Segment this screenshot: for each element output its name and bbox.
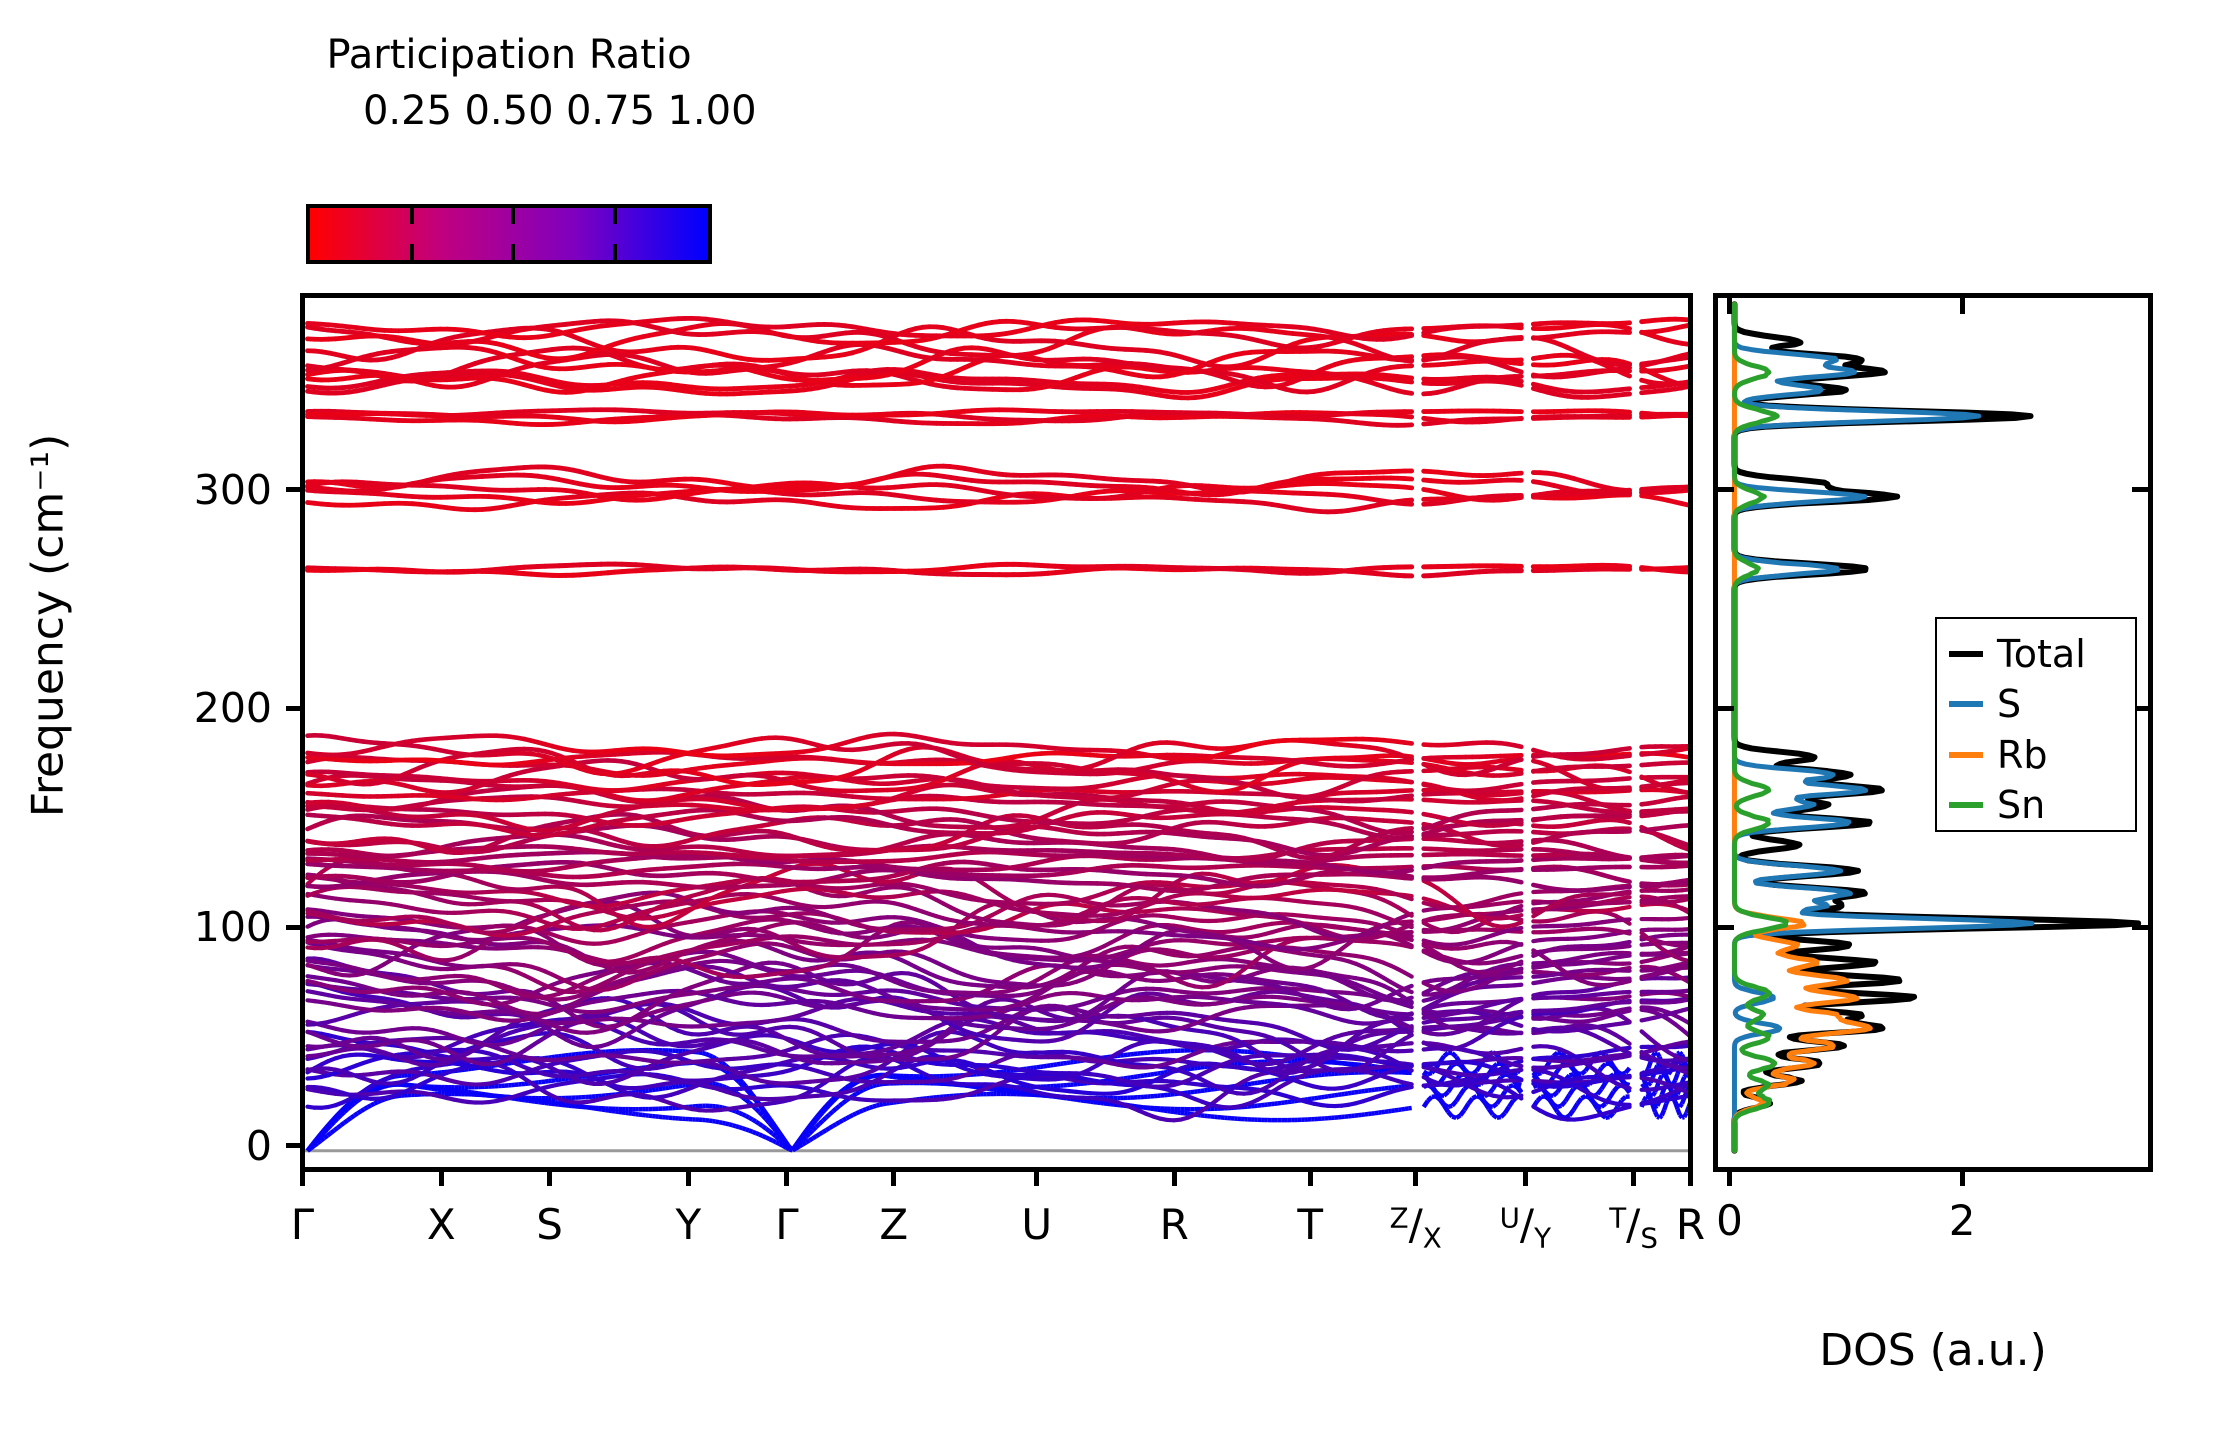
k-point-label: U bbox=[1021, 1200, 1052, 1249]
k-point-tick-mark bbox=[1034, 1172, 1039, 1186]
dos-tick-label: 2 bbox=[1949, 1196, 1976, 1245]
dos-legend: TotalSRbSn bbox=[1935, 617, 2137, 832]
k-point-label: U/Y bbox=[1500, 1200, 1551, 1254]
k-point-tick-mark bbox=[1688, 1172, 1693, 1186]
dos-tick-mark bbox=[1727, 1172, 1732, 1186]
k-point-label: T/S bbox=[1609, 1200, 1658, 1254]
k-point-tick-mark bbox=[547, 1172, 552, 1186]
k-point-tick-mark bbox=[1523, 1172, 1528, 1186]
legend-color-swatch bbox=[1949, 802, 1983, 808]
k-point-label: Y bbox=[676, 1200, 702, 1249]
legend-entry: Rb bbox=[1937, 731, 2135, 779]
legend-entry: Total bbox=[1937, 630, 2135, 678]
y-tick-label: 100 bbox=[40, 903, 272, 951]
k-point-tick-mark bbox=[1308, 1172, 1313, 1186]
k-point-label: Z bbox=[879, 1200, 908, 1249]
dos-x-axis-label: DOS (a.u.) bbox=[1713, 1325, 2153, 1376]
dos-tick-mark-top bbox=[1960, 298, 1965, 314]
dos-left-y-tick bbox=[1718, 706, 1734, 711]
dos-tick-mark bbox=[1960, 1172, 1965, 1186]
low-frequency-manifold bbox=[308, 860, 1694, 1121]
k-point-tick-mark bbox=[784, 1172, 789, 1186]
legend-color-swatch bbox=[1949, 701, 1983, 707]
legend-color-swatch bbox=[1949, 651, 1983, 657]
colorbar-tick-mark bbox=[511, 244, 515, 260]
dos-tick-mark-top bbox=[1727, 298, 1732, 314]
k-point-tick-mark bbox=[891, 1172, 896, 1186]
y-tick-mark bbox=[286, 925, 300, 930]
dos-tick-label: 0 bbox=[1716, 1196, 1743, 1245]
legend-entry-label: Sn bbox=[1997, 786, 2045, 824]
dos-left-y-tick bbox=[1718, 487, 1734, 492]
k-point-tick-mark bbox=[1413, 1172, 1418, 1186]
colorbar-tick-label: 0.25 bbox=[363, 88, 452, 134]
dos-left-y-tick bbox=[1718, 925, 1734, 930]
k-point-tick-mark bbox=[1631, 1172, 1636, 1186]
legend-entry-label: S bbox=[1997, 685, 2021, 723]
figure-root: Participation Ratio 0.250.500.751.00 Fre… bbox=[0, 0, 2222, 1455]
colorbar-tick-mark bbox=[511, 208, 515, 224]
y-tick-mark bbox=[286, 487, 300, 492]
colorbar-tick-labels: 0.250.500.751.00 bbox=[306, 88, 712, 138]
dos-right-y-tick bbox=[2132, 487, 2148, 492]
legend-entry: Sn bbox=[1937, 781, 2135, 829]
k-point-tick-mark bbox=[439, 1172, 444, 1186]
y-tick-label: 300 bbox=[40, 466, 272, 514]
y-axis-label: Frequency (cm⁻¹) bbox=[23, 316, 74, 936]
k-point-label: R bbox=[1160, 1200, 1189, 1249]
k-point-label: Γ bbox=[775, 1200, 798, 1249]
legend-entry-label: Rb bbox=[1997, 736, 2048, 774]
upper-optic-bands-300 bbox=[308, 466, 1694, 512]
mid-optic-bands bbox=[308, 734, 1694, 891]
k-point-tick-mark bbox=[300, 1172, 305, 1186]
colorbar-title: Participation Ratio bbox=[306, 32, 712, 78]
k-point-tick-mark bbox=[1172, 1172, 1177, 1186]
phonon-band-structure-panel bbox=[300, 293, 1693, 1172]
colorbar-tick-mark bbox=[613, 208, 617, 224]
legend-entry: S bbox=[1937, 680, 2135, 728]
colorbar-tick-mark bbox=[410, 208, 414, 224]
y-tick-mark bbox=[286, 1143, 300, 1148]
colorbar-tick-label: 1.00 bbox=[667, 88, 756, 134]
y-tick-label: 0 bbox=[40, 1122, 272, 1170]
y-tick-mark bbox=[286, 706, 300, 711]
k-point-label: T bbox=[1297, 1200, 1323, 1249]
k-point-label: R bbox=[1676, 1200, 1705, 1249]
dos-right-y-tick bbox=[2132, 925, 2148, 930]
isolated-mode-266 bbox=[308, 564, 1694, 576]
colorbar-tick-mark bbox=[613, 244, 617, 260]
k-point-label: S bbox=[536, 1200, 563, 1249]
colorbar-tick-mark bbox=[410, 244, 414, 260]
colorbar-tick-label: 0.75 bbox=[566, 88, 655, 134]
k-point-tick-mark bbox=[686, 1172, 691, 1186]
participation-ratio-colorbar bbox=[306, 204, 712, 264]
legend-color-swatch bbox=[1949, 752, 1983, 758]
legend-entry-label: Total bbox=[1997, 635, 2086, 673]
k-point-label: Γ bbox=[291, 1200, 314, 1249]
upper-optic-bands-350 bbox=[308, 318, 1694, 425]
k-point-label: Z/X bbox=[1390, 1200, 1442, 1254]
y-tick-label: 200 bbox=[40, 684, 272, 732]
band-structure-plot bbox=[305, 298, 1693, 1172]
k-point-label: X bbox=[427, 1200, 456, 1249]
colorbar-tick-label: 0.50 bbox=[464, 88, 553, 134]
